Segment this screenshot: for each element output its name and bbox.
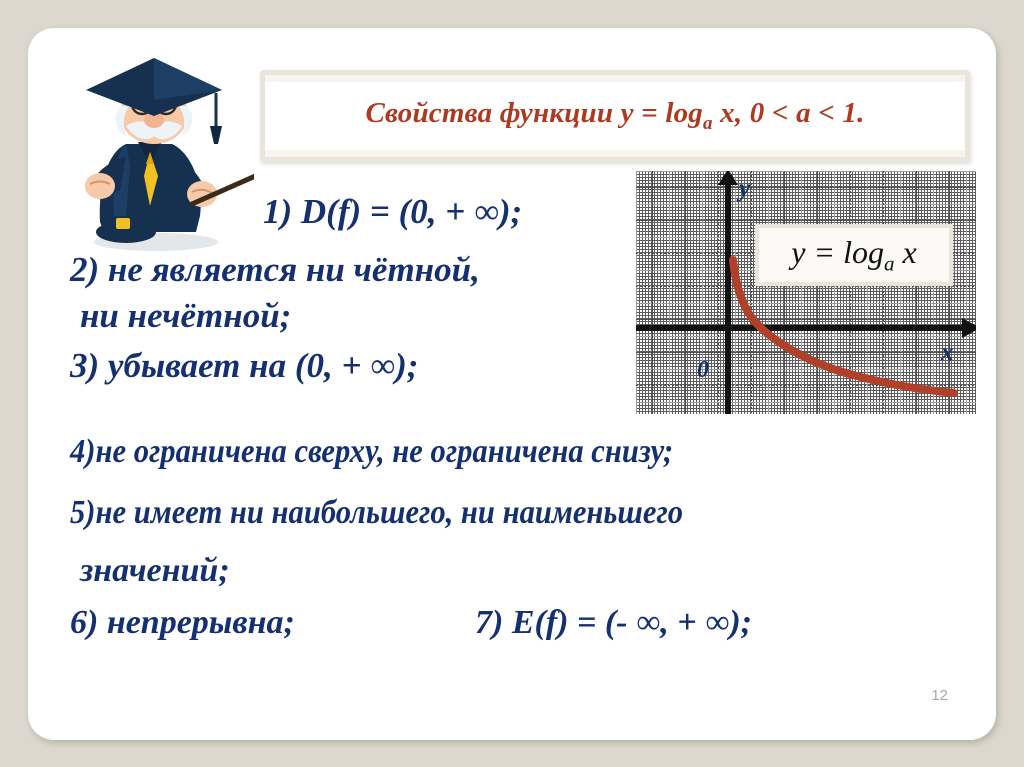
slide-card: Свойства функции y = loga x, 0 < a < 1. … [28, 28, 996, 740]
title-prefix: Свойства функции y = log [365, 97, 703, 129]
property-item-5: 5)не имеет ни наибольшего, ни наименьшег… [70, 494, 683, 532]
logarithm-graph: y x 0 y = loga x [636, 171, 976, 414]
property-item-6: 6) непрерывна; [70, 604, 295, 642]
title-banner: Свойства функции y = loga x, 0 < a < 1. [260, 70, 970, 162]
title-suffix: x, 0 < a < 1. [713, 97, 865, 129]
page-title: Свойства функции y = loga x, 0 < a < 1. [365, 97, 864, 135]
formula-lhs: y = log [791, 234, 884, 270]
property-item-5-cont: значений; [80, 552, 230, 590]
formula-base: a [884, 251, 895, 275]
origin-label: 0 [697, 357, 709, 384]
formula-box: y = loga x [755, 224, 953, 286]
page-number: 12 [931, 687, 948, 704]
property-item-2: 2) не является ни чётной, [70, 250, 480, 290]
professor-illustration [64, 56, 254, 256]
property-item-7: 7) E(f) = (- ∞, + ∞); [475, 604, 752, 642]
formula-arg: x [894, 234, 916, 270]
formula-text: y = loga x [791, 234, 916, 276]
property-item-3: 3) убывает на (0, + ∞); [70, 346, 418, 386]
slide-root: Свойства функции y = loga x, 0 < a < 1. … [0, 0, 1024, 767]
property-item-1: 1) D(f) = (0, + ∞); [263, 192, 522, 232]
property-item-2-cont: ни нечётной; [80, 296, 291, 336]
title-banner-inner: Свойства функции y = loga x, 0 < a < 1. [265, 82, 965, 150]
property-item-4: 4)не ограничена сверху, не ограничена сн… [70, 433, 673, 471]
title-log-base: a [703, 113, 713, 134]
graph-axes-and-curve [636, 171, 976, 414]
y-axis-label: y [739, 175, 750, 203]
x-axis-label: x [941, 339, 954, 367]
